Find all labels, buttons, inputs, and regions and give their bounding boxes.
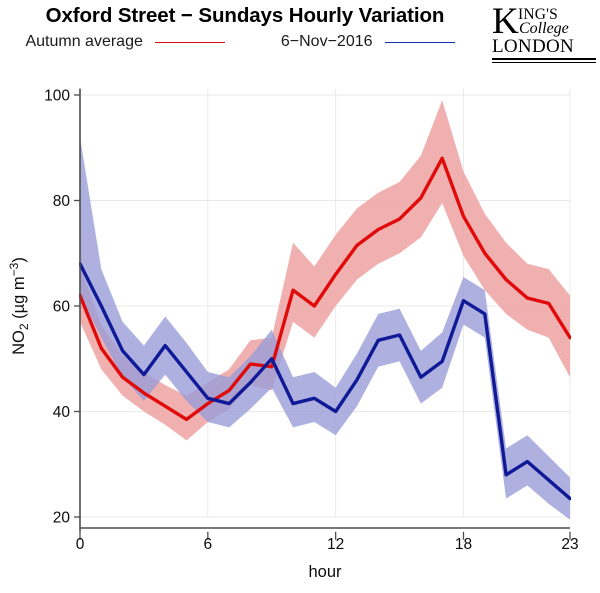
chart-page: Oxford Street − Sundays Hourly Variation… bbox=[0, 0, 600, 593]
x-axis-title: hour bbox=[308, 563, 342, 581]
x-tick-label: 18 bbox=[455, 536, 472, 553]
confidence-band bbox=[80, 137, 570, 519]
x-tick-label: 6 bbox=[204, 536, 213, 553]
plot-svg: 2040608010006121823hourNO2 (µg m−3) bbox=[0, 0, 600, 593]
y-tick-label: 20 bbox=[53, 510, 71, 527]
plot-area: 2040608010006121823hourNO2 (µg m−3) bbox=[0, 0, 600, 593]
y-tick-label: 100 bbox=[44, 88, 70, 105]
x-tick-label: 12 bbox=[327, 536, 344, 553]
y-axis-title: NO2 (µg m−3) bbox=[7, 257, 31, 355]
y-tick-label: 80 bbox=[53, 193, 71, 210]
x-tick-label: 0 bbox=[76, 536, 85, 553]
x-tick-label: 23 bbox=[561, 536, 578, 553]
series-layer bbox=[80, 100, 570, 519]
y-tick-label: 60 bbox=[53, 299, 71, 316]
y-tick-label: 40 bbox=[53, 404, 71, 421]
